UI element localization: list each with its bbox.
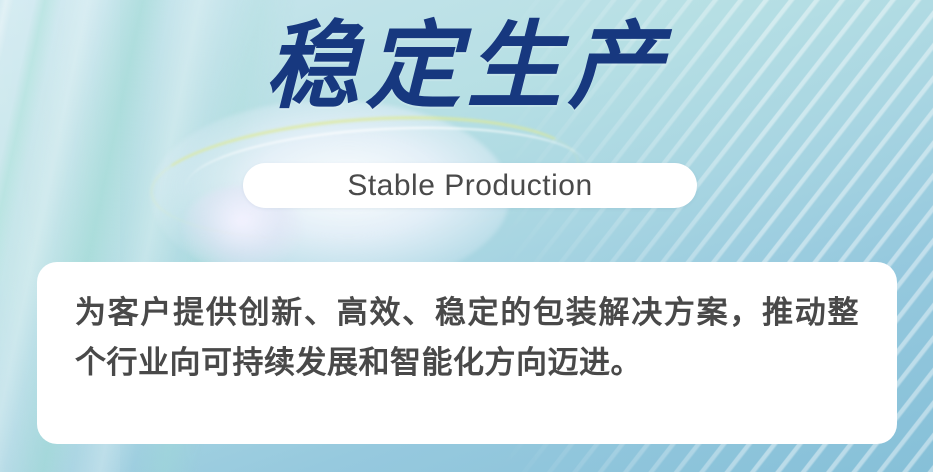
description-text: 为客户提供创新、高效、稳定的包装解决方案，推动整个行业向可持续发展和智能化方向迈… [75,288,859,388]
description-card: 为客户提供创新、高效、稳定的包装解决方案，推动整个行业向可持续发展和智能化方向迈… [37,262,897,444]
subtitle-pill: Stable Production [243,163,697,208]
page-title: 稳定生产 [0,14,933,120]
subtitle-text: Stable Production [347,169,592,203]
banner-root: 稳定生产 Stable Production 为客户提供创新、高效、稳定的包装解… [0,0,933,472]
